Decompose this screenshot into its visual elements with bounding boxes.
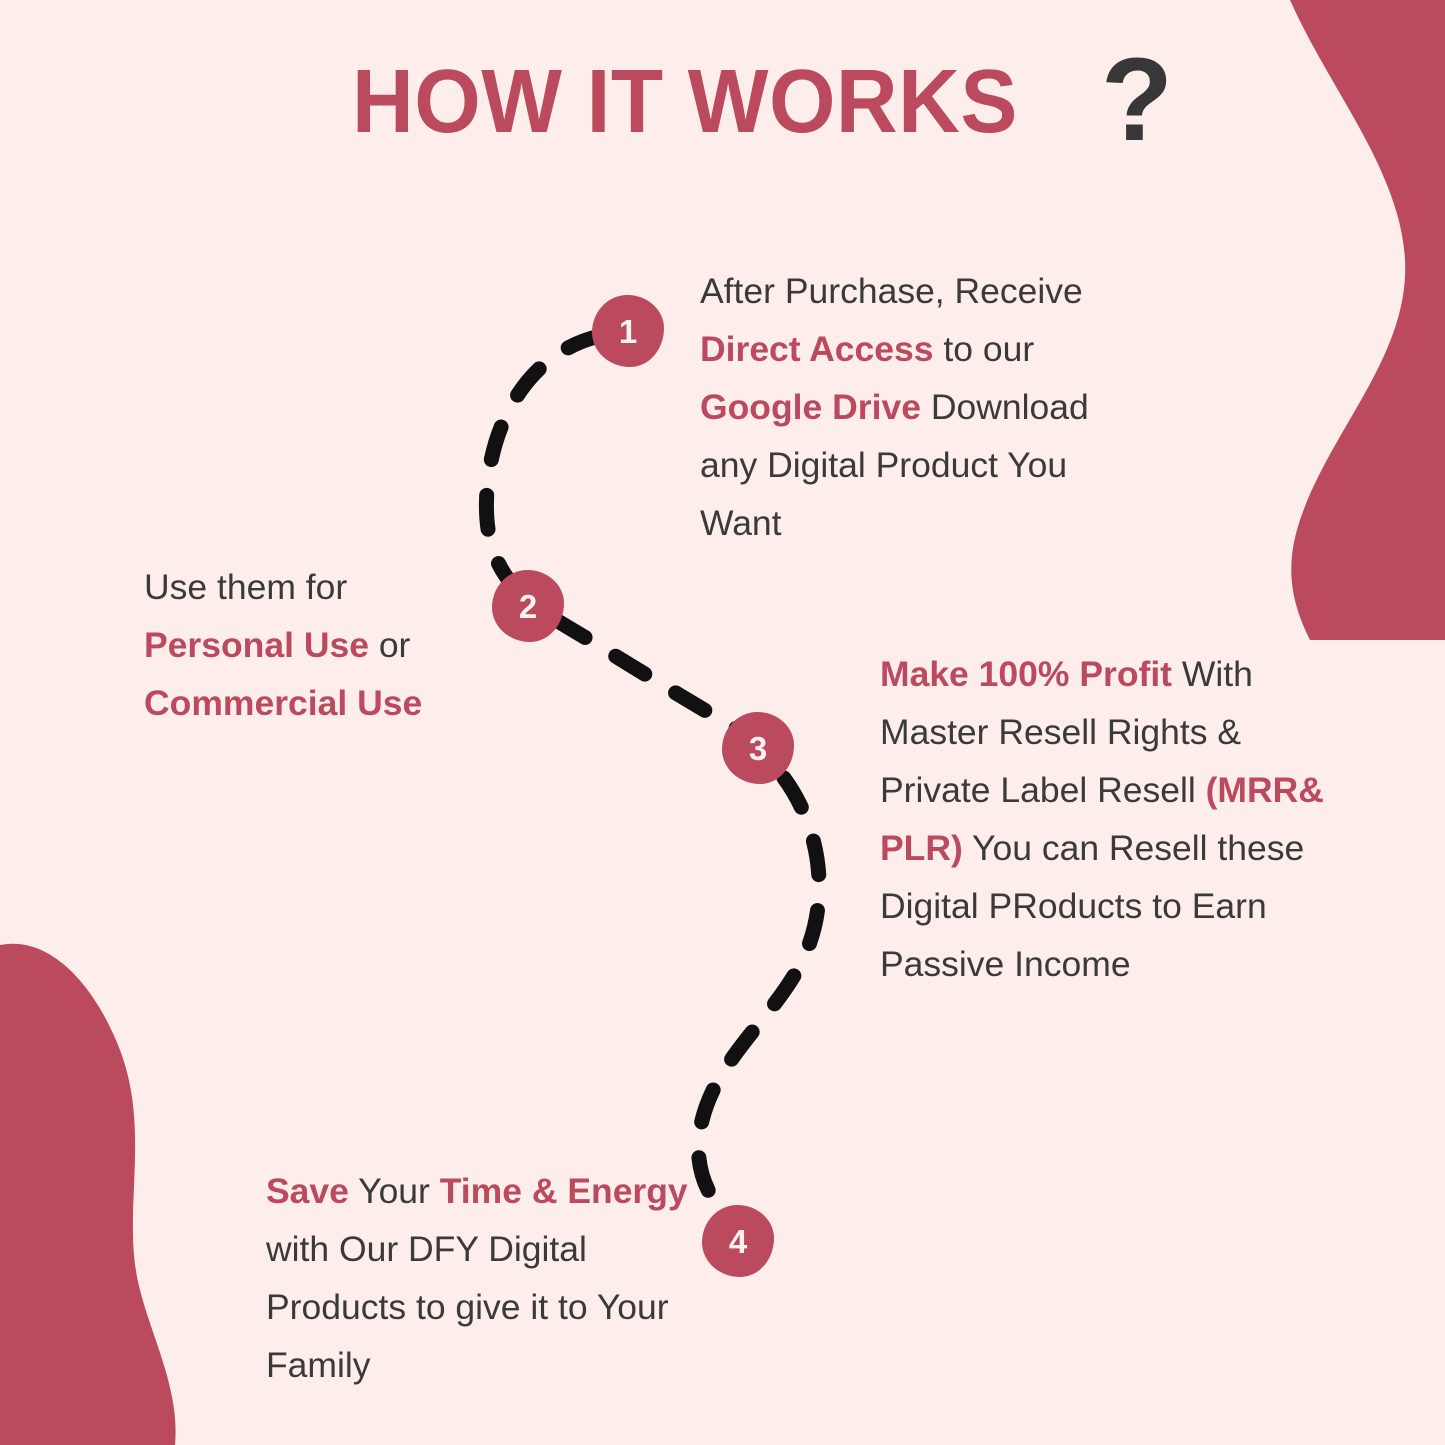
question-mark-icon: ? xyxy=(1101,50,1173,150)
step-description-4: Save Your Time & Energy with Our DFY Dig… xyxy=(266,1162,696,1394)
path-segment-2-to-3 xyxy=(556,620,744,733)
step-description-2: Use them for Personal Use or Commercial … xyxy=(144,558,474,732)
step-badge-4: 4 xyxy=(702,1205,774,1277)
step-number-4: 4 xyxy=(729,1225,747,1258)
step-badge-2: 2 xyxy=(492,570,564,642)
step-badge-3: 3 xyxy=(722,712,794,784)
step-number-3: 3 xyxy=(749,732,767,765)
bottom-left-blob xyxy=(0,944,176,1445)
path-segment-3-to-4 xyxy=(698,778,819,1212)
how-it-works-infographic: HOW IT WORKS ? 1 2 3 4 After Purchase, R… xyxy=(0,0,1445,1445)
step-badge-1: 1 xyxy=(592,295,664,367)
page-title-text: HOW IT WORKS xyxy=(352,52,1018,152)
step-description-3: Make 100% Profit With Master Resell Righ… xyxy=(880,645,1360,993)
path-segment-1-to-2 xyxy=(486,336,600,600)
step-number-2: 2 xyxy=(519,590,537,623)
top-right-blob xyxy=(1290,0,1445,640)
page-title: HOW IT WORKS ? xyxy=(352,52,1173,152)
step-number-1: 1 xyxy=(619,315,637,348)
step-description-1: After Purchase, Receive Direct Access to… xyxy=(700,262,1140,552)
